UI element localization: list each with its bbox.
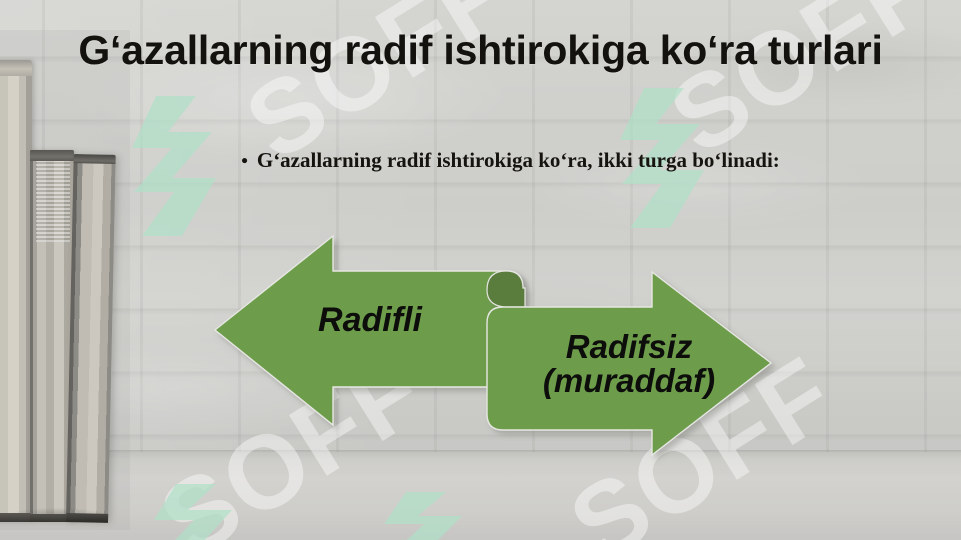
presentation-slide: SOFF SOFF SOFF SOFF G‘azallarning radif …	[0, 0, 961, 540]
arrow-left-label: Radifli	[236, 303, 504, 338]
arrow-right-label: Radifsiz (muraddaf)	[487, 330, 771, 399]
two-arrow-diagram	[0, 0, 961, 540]
